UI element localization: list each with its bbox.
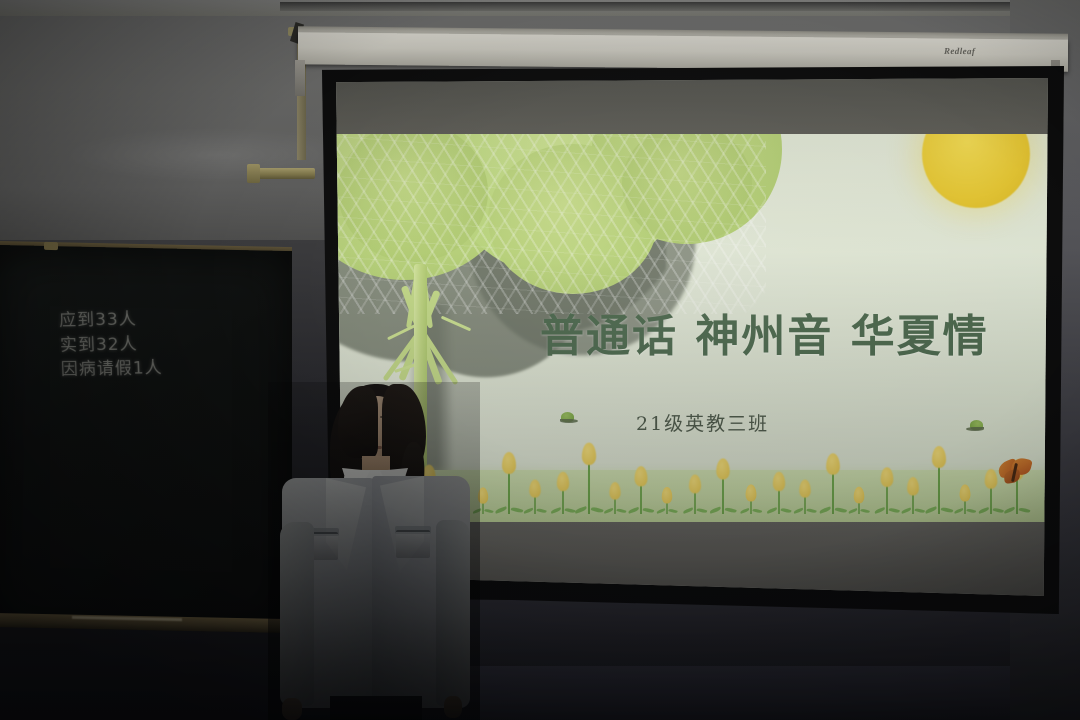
tulip-icon [529, 476, 540, 514]
tulip-icon [960, 481, 971, 514]
tulip-icon [635, 462, 648, 514]
classroom-photo: 应到33人 实到32人 因病请假1人 Redleaf [0, 0, 1080, 720]
jacket-sleeve-left [280, 522, 314, 706]
tulip-icon [609, 479, 620, 514]
valance-bracket-left [295, 60, 305, 96]
butterfly-icon [998, 458, 1034, 486]
tulip-bud [773, 472, 785, 491]
tulip-icon [826, 449, 840, 514]
chalk-line-1: 应到33人 [59, 307, 162, 333]
screen-brand-label: Redleaf [944, 46, 975, 56]
tulip-icon [854, 484, 865, 514]
jacket-sleeve-right [436, 520, 470, 706]
student-presenter [268, 382, 480, 720]
tulip-bud [689, 474, 701, 493]
tulip-stem [508, 470, 510, 514]
blackboard-chalk-text: 应到33人 实到32人 因病请假1人 [59, 307, 163, 382]
tulip-icon [557, 468, 569, 514]
letterbox-band-top [336, 78, 1048, 138]
tulip-icon [502, 448, 516, 514]
tulip-icon [689, 471, 701, 514]
tulip-icon [985, 465, 998, 514]
tulip-icon [881, 464, 894, 514]
tulip-bud [716, 458, 729, 479]
tulip-bud [529, 480, 540, 498]
tulip-bud [907, 477, 919, 495]
tulip-bud [932, 446, 946, 468]
slide-subtitle: 21级英教三班 [636, 409, 769, 436]
jacket-pocket [396, 530, 430, 558]
tulip-stem [938, 464, 940, 514]
snail-icon [966, 420, 984, 431]
tulip-bud [985, 469, 998, 489]
snail-foot [560, 419, 578, 423]
tulip-bud [582, 443, 596, 465]
tulip-icon [746, 481, 757, 514]
snail-icon [560, 412, 578, 423]
tulip-icon [907, 474, 919, 514]
chalk-line-3: 因病请假1人 [60, 357, 163, 383]
tulip-bud [881, 467, 894, 487]
tulip-bud [502, 452, 516, 474]
rod-end-cap [247, 164, 260, 183]
trousers [330, 696, 422, 720]
tulip-stem [588, 461, 590, 514]
tulip-bud [854, 487, 865, 504]
tulip-bud [799, 480, 810, 498]
tulip-bud [557, 472, 569, 491]
tulip-bud [662, 487, 673, 504]
tulip-bud [635, 466, 648, 486]
tulip-stem [722, 476, 724, 514]
tulip-icon [662, 484, 673, 514]
blackboard-clip [44, 242, 58, 250]
tulip-icon [932, 442, 946, 514]
hand-right [444, 696, 462, 718]
chalk-line-2: 实到32人 [60, 332, 163, 358]
tulip-icon [582, 439, 596, 514]
tulip-icon [799, 476, 810, 514]
classroom-blackboard [0, 245, 292, 633]
tulip-bud [609, 482, 620, 500]
tulip-bud [960, 484, 971, 501]
ceiling-shadow [280, 2, 1080, 11]
hand-left [282, 698, 302, 720]
tulip-stem [832, 471, 834, 514]
tulip-icon [716, 454, 729, 514]
slide-title: 普通话 神州音 华夏情 [540, 300, 989, 364]
tulip-bud [746, 484, 757, 501]
hair-front-left [338, 386, 378, 458]
snail-foot [966, 427, 984, 431]
sun-icon [922, 134, 1030, 208]
tulip-icon [773, 468, 785, 514]
tulip-bud [826, 453, 840, 475]
